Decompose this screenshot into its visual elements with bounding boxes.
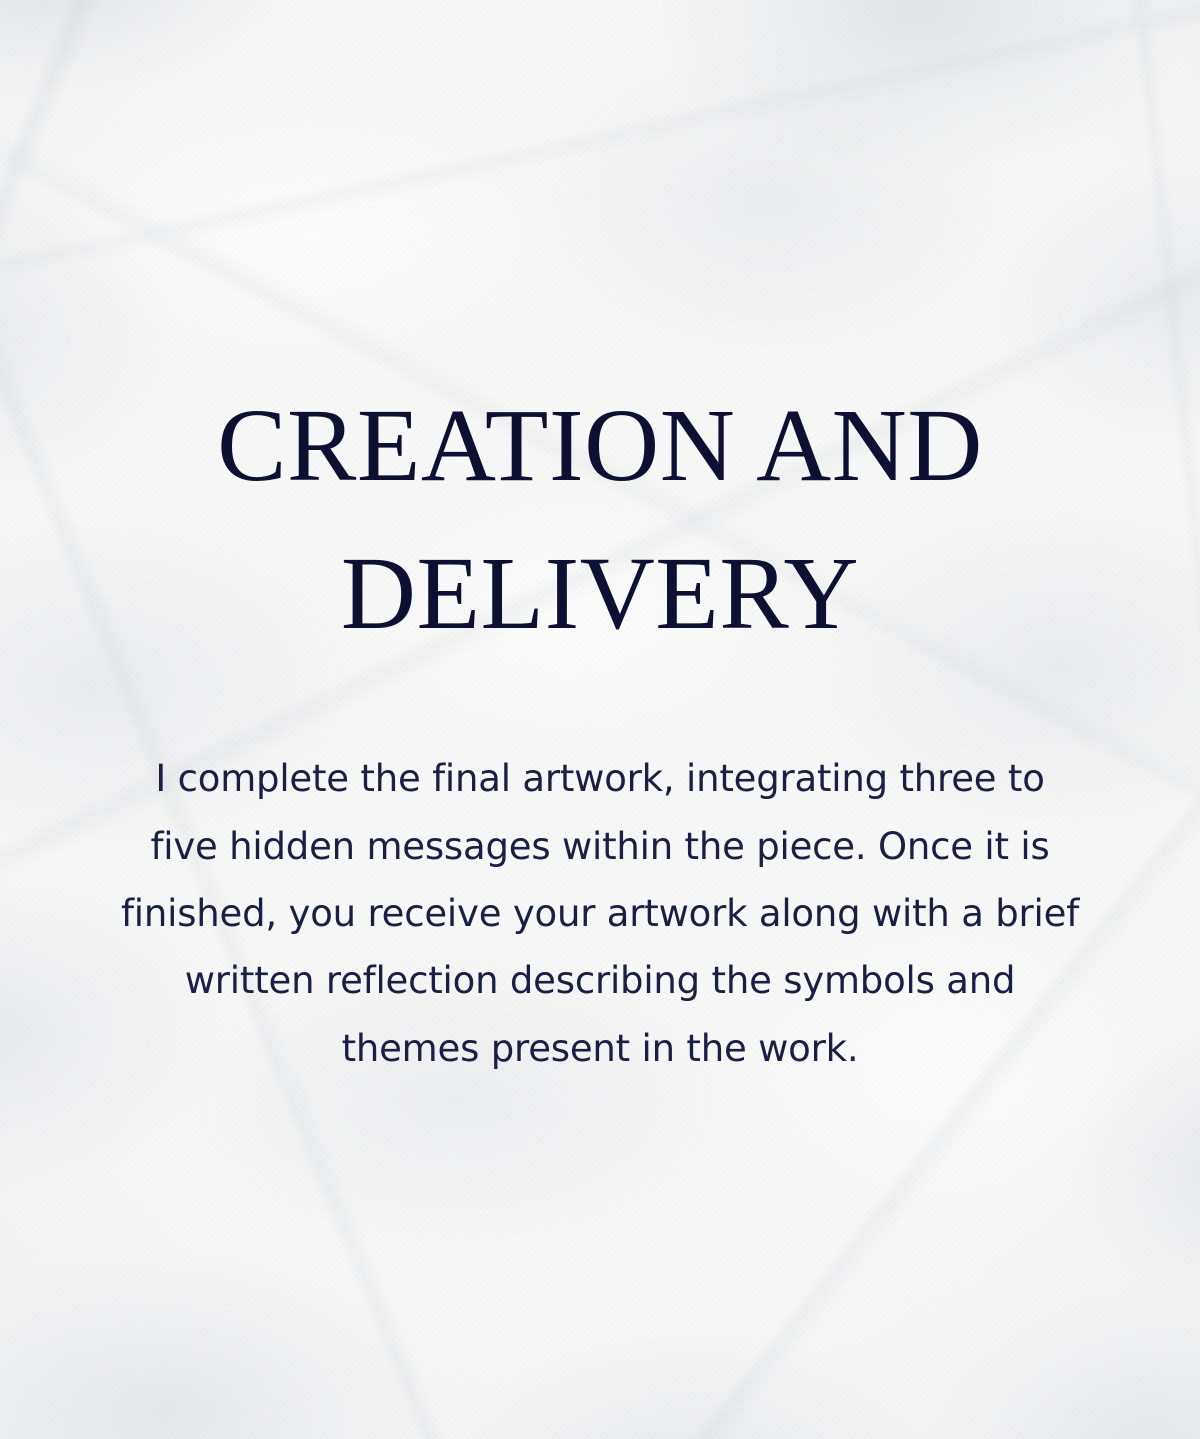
body-paragraph: I complete the final artwork, integratin… bbox=[120, 745, 1080, 1082]
page-title: CREATION AND DELIVERY bbox=[96, 372, 1104, 667]
poster-content: CREATION AND DELIVERY I complete the fin… bbox=[0, 0, 1200, 1439]
poster-canvas: CREATION AND DELIVERY I complete the fin… bbox=[0, 0, 1200, 1439]
